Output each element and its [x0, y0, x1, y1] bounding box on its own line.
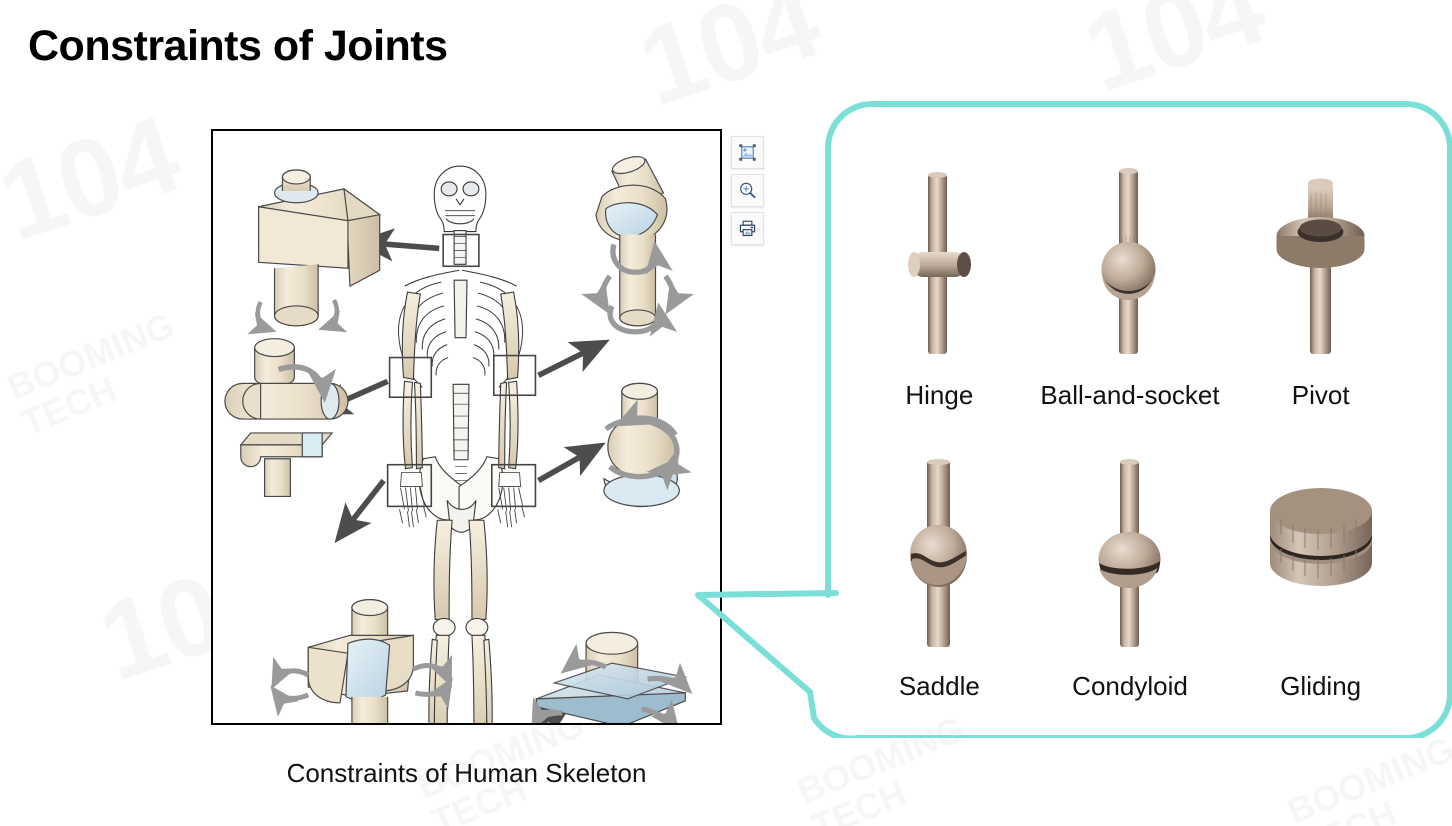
- condyloid-joint-model: [1055, 452, 1205, 657]
- joint-label: Ball-and-socket: [1040, 380, 1219, 411]
- image-toolbar[interactable]: [731, 136, 764, 250]
- condyloid-joint-diagram: [604, 383, 679, 506]
- joint-cell-saddle[interactable]: Saddle: [844, 411, 1035, 702]
- watermark: 104: [625, 0, 833, 131]
- joint-label: Condyloid: [1072, 671, 1188, 702]
- watermark: 104: [0, 91, 193, 267]
- watermark: BOOMING TECH: [1282, 730, 1452, 826]
- skeleton-body: [398, 166, 524, 723]
- joint-cell-gliding[interactable]: Gliding: [1225, 411, 1416, 702]
- joint-cell-ball-and-socket[interactable]: Ball-and-socket: [1035, 120, 1226, 411]
- pivot-joint-diagram: [258, 170, 380, 330]
- gliding-joint-diagram: [534, 632, 687, 723]
- joint-cell-hinge[interactable]: Hinge: [844, 120, 1035, 411]
- joint-grid: Hinge Ball-and-socket: [826, 104, 1434, 726]
- slide-root: 104104104104BOOMING TECHBOOMING TECHBOOM…: [0, 0, 1452, 826]
- zoom-in-icon[interactable]: [731, 174, 764, 207]
- joint-label: Hinge: [905, 380, 973, 411]
- ball-and-socket-joint-model: [1055, 161, 1205, 366]
- joint-cell-pivot[interactable]: Pivot: [1225, 120, 1416, 411]
- gliding-joint-model: [1246, 452, 1396, 657]
- resize-image-icon[interactable]: [731, 136, 764, 169]
- hinge-joint-diagram: [225, 339, 348, 497]
- skeleton-figure-panel[interactable]: [211, 129, 722, 725]
- page-title: Constraints of Joints: [28, 22, 448, 71]
- print-icon[interactable]: [731, 212, 764, 245]
- watermark: 104: [1070, 0, 1278, 117]
- joint-label: Pivot: [1292, 380, 1350, 411]
- saddle-joint-model: [864, 452, 1014, 657]
- skeleton-diagram: [213, 131, 720, 723]
- pivot-joint-model: [1246, 161, 1396, 366]
- watermark: BOOMING TECH: [2, 306, 194, 442]
- figure-caption: Constraints of Human Skeleton: [211, 758, 722, 789]
- hinge-joint-model: [864, 161, 1014, 366]
- joint-label: Gliding: [1280, 671, 1361, 702]
- ball-and-socket-joint-diagram: [596, 153, 673, 332]
- joint-cell-condyloid[interactable]: Condyloid: [1035, 411, 1226, 702]
- watermark: BOOMING TECH: [792, 710, 984, 826]
- saddle-joint-diagram: [275, 600, 450, 723]
- joint-label: Saddle: [899, 671, 980, 702]
- joint-types-panel: Hinge Ball-and-socket: [826, 104, 1434, 726]
